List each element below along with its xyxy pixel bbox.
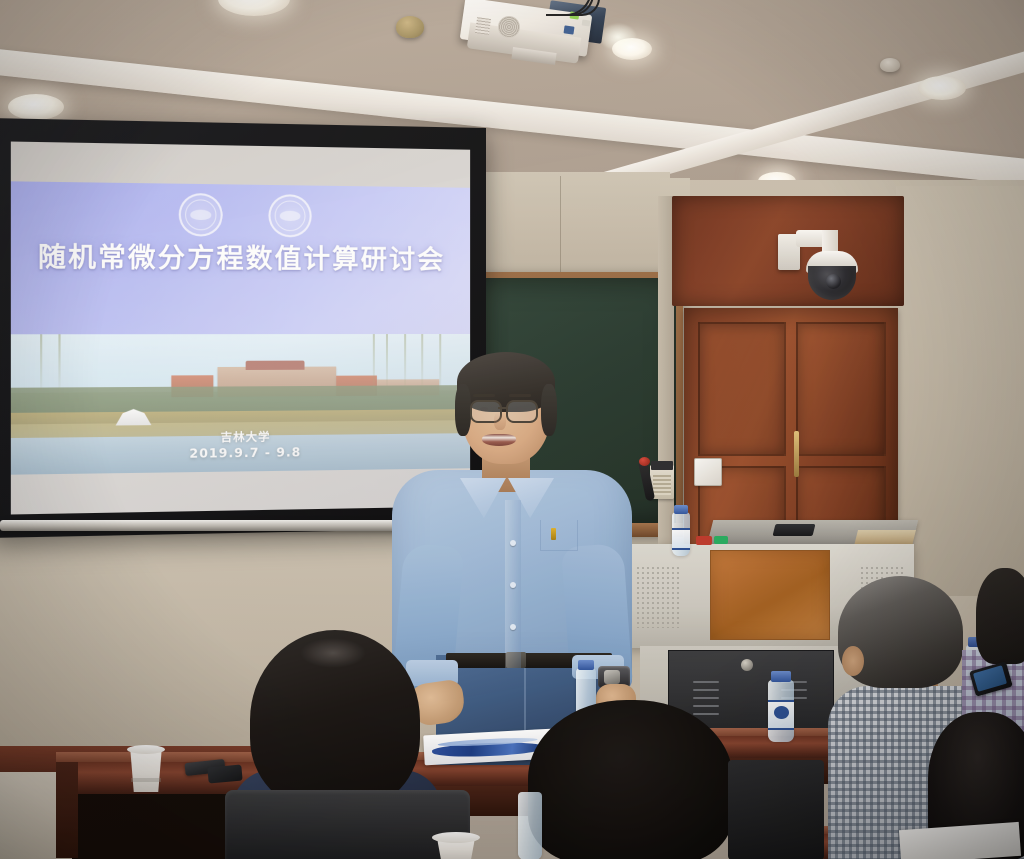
willow-branch xyxy=(439,334,441,396)
presenter-hair-side xyxy=(455,384,471,436)
attendee-hair xyxy=(976,568,1024,664)
university-seal-right-icon xyxy=(268,194,311,237)
projector-connector xyxy=(563,25,574,34)
presenter-hair-side xyxy=(541,384,557,436)
willow-branch xyxy=(40,334,42,399)
chair-back xyxy=(225,790,470,859)
projector-connector xyxy=(582,19,591,26)
lectern-control-tablet[interactable] xyxy=(773,524,816,536)
hair-highlight xyxy=(300,638,366,668)
mobile-phone[interactable] xyxy=(207,765,242,784)
university-seal-left-icon xyxy=(179,193,223,237)
presenter-shirt-pocket xyxy=(540,520,578,551)
water-bottle[interactable] xyxy=(518,792,542,859)
willow-branch xyxy=(404,334,406,396)
lectern-wood-panel xyxy=(710,550,830,640)
paper-cup-band xyxy=(131,778,161,782)
door-panel-inset xyxy=(698,322,786,456)
presenter-eyebrow xyxy=(473,394,495,397)
smoke-detector-icon xyxy=(396,16,424,38)
shirt-button xyxy=(510,582,516,588)
rack-slot xyxy=(693,697,719,699)
attendee-ear xyxy=(842,646,864,676)
rack-slot xyxy=(693,689,719,691)
bottle-cap[interactable] xyxy=(578,660,594,670)
presenter-eyebrow xyxy=(509,394,531,397)
paper-cup-rim xyxy=(127,745,165,754)
rack-slot xyxy=(693,681,719,683)
laptop[interactable] xyxy=(728,760,824,859)
intercom-red-indicator-icon xyxy=(639,457,650,466)
desk-side-panel xyxy=(56,762,78,858)
wall-panel xyxy=(470,172,670,278)
downlight-icon xyxy=(918,76,966,100)
camera-lens-icon xyxy=(826,274,841,289)
projector-slats xyxy=(475,17,491,35)
screen-canvas: 随机常微分方程数值计算研讨会 xyxy=(11,142,470,515)
ptz-dome-camera xyxy=(778,218,864,304)
presentation-slide: 随机常微分方程数值计算研讨会 xyxy=(11,181,470,474)
door-handle[interactable] xyxy=(794,431,799,477)
slide-header-band: 随机常微分方程数值计算研讨会 xyxy=(11,181,470,334)
bottle-brand-mark xyxy=(774,706,789,719)
paper-cup[interactable] xyxy=(128,748,164,792)
bottle-cap[interactable] xyxy=(674,505,688,514)
willow-branch xyxy=(59,334,61,399)
pen-icon xyxy=(551,528,556,540)
lectern-marker[interactable] xyxy=(714,536,728,544)
wristwatch-face xyxy=(604,670,620,684)
downlight-icon xyxy=(8,94,64,120)
slide-emblems xyxy=(11,190,470,238)
lectern-marker[interactable] xyxy=(696,536,712,545)
attendee-front-center xyxy=(528,700,733,859)
presenter-mouth xyxy=(482,434,516,446)
willow-branch xyxy=(386,334,388,396)
wall-panel-seam xyxy=(560,176,561,280)
smoke-detector-icon xyxy=(880,58,900,72)
slide-title: 随机常微分方程数值计算研讨会 xyxy=(11,236,470,277)
paper-cup-rim xyxy=(432,832,480,843)
intercom-display xyxy=(651,461,673,470)
rack-slot xyxy=(693,713,719,715)
bottle-label xyxy=(672,528,690,550)
intercom-keypad[interactable] xyxy=(653,475,671,495)
willow-branch xyxy=(373,334,375,397)
shirt-button xyxy=(510,624,516,630)
rack-knob[interactable] xyxy=(741,659,753,671)
ceiling-projector xyxy=(452,0,612,62)
presenter-nose xyxy=(494,412,506,430)
slide-campus-photo: 吉林大学 2019.9.7 - 9.8 xyxy=(11,334,470,475)
willow-branch xyxy=(422,334,424,396)
door-panel-inset xyxy=(796,322,886,456)
rack-slot xyxy=(693,705,719,707)
shirt-button xyxy=(510,540,516,546)
conference-room-photo: 随机常微分方程数值计算研讨会 xyxy=(0,0,1024,859)
light-switch-panel[interactable] xyxy=(694,458,722,486)
lectern-speaker-grille xyxy=(636,566,682,628)
projector-lens-glow xyxy=(600,24,636,50)
projection-screen: 随机常微分方程数值计算研讨会 xyxy=(0,118,486,538)
slide-caption: 吉林大学 2019.9.7 - 9.8 xyxy=(11,426,470,463)
bottle-cap[interactable] xyxy=(771,671,791,682)
campus-roof xyxy=(246,361,305,369)
wall-panel xyxy=(896,186,1024,596)
eyeglasses-icon xyxy=(506,400,538,423)
eyeglasses-bridge xyxy=(498,407,507,409)
